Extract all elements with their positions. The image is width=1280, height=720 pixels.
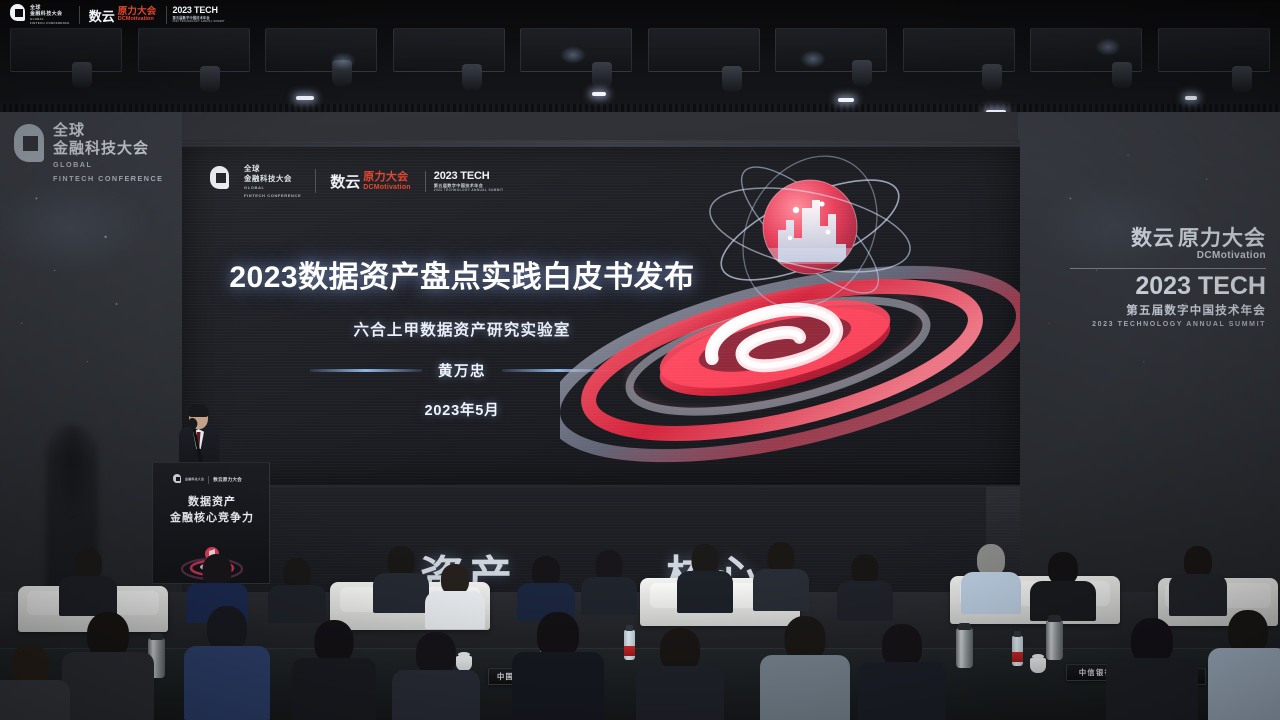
- person-body: [677, 571, 733, 613]
- podium-logo-text: 金融科技大会: [185, 478, 204, 482]
- left-sign-en-1: GLOBAL: [53, 160, 163, 170]
- spotlight-beam: [1185, 96, 1197, 100]
- right-sign-summit-en: 2023 TECHNOLOGY ANNUAL SUMMIT: [1070, 321, 1266, 328]
- led-logo-fintech-cn1: 全球: [244, 164, 301, 174]
- stage-light: [1112, 62, 1132, 88]
- person-body: [0, 680, 70, 720]
- person-body: [268, 585, 326, 623]
- overlay-badge-en: 2023 TECHNOLOGY ANNUAL SUMMIT: [173, 21, 225, 23]
- led-logo-dcm-red-en: DCMotivation: [363, 184, 411, 191]
- audience-person: [0, 644, 70, 720]
- fintech-logo-mark-icon: [173, 474, 181, 485]
- overlay-fintech-text: 全球 金融科技大会 GLOBAL FINTECH CONFERENCE: [30, 5, 70, 25]
- led-logo-dcm-red-cn: 原力大会: [363, 172, 411, 183]
- spotlight-beam: [592, 92, 606, 96]
- person-body: [760, 655, 850, 720]
- led-logo-dcm-red: 原力大会 DCMotivation: [363, 172, 411, 191]
- stage-light: [200, 66, 220, 92]
- audience-person: [372, 546, 430, 606]
- right-sign-summit-cn: 第五届数字中国技术年会: [1070, 302, 1266, 318]
- person-head: [315, 620, 354, 663]
- truss-segment: [1158, 28, 1270, 72]
- audience-person: [960, 544, 1022, 608]
- broadcast-overlay-logos: 全球 金融科技大会 GLOBAL FINTECH CONFERENCE 数云 原…: [10, 4, 225, 26]
- main-led-screen: 全球 金融科技大会 GLOBAL FINTECH CONFERENCE 数云 原…: [182, 140, 1020, 485]
- person-body: [858, 662, 946, 720]
- right-sign-tech-year: 2023 TECH: [1070, 274, 1266, 299]
- lamp-glow: [330, 52, 356, 70]
- fintech-logo-mark-icon: [12, 124, 46, 180]
- left-wall-signage: 全球 金融科技大会 GLOBAL FINTECH CONFERENCE: [12, 122, 172, 184]
- audience-person: [752, 542, 810, 604]
- lamp-glow: [560, 46, 586, 64]
- podium-logo-cn: 金融科技大会: [185, 477, 204, 481]
- led-top-bezel: [182, 140, 1020, 147]
- person-body: [59, 576, 117, 616]
- right-sign-brand-en: DCMotivation: [1070, 250, 1266, 261]
- person-body: [184, 646, 270, 720]
- person-body: [1208, 648, 1280, 720]
- lamp-glow: [1095, 38, 1121, 56]
- person-body: [425, 591, 485, 629]
- stage-light: [72, 62, 92, 88]
- podium-slogan-line1: 数据资产: [153, 495, 270, 511]
- truss-segment: [393, 28, 505, 72]
- audience-person: [676, 544, 734, 606]
- person-body: [512, 652, 604, 720]
- overlay-fintech-en2: FINTECH CONFERENCE: [30, 22, 70, 25]
- audience-person: [836, 554, 894, 614]
- audience-person: [424, 564, 486, 622]
- right-sign-brand-row: 数云 原力大会: [1070, 228, 1266, 249]
- stage-light: [462, 64, 482, 90]
- audience-area: 中国进出口银行 中信银行 中信银行: [0, 520, 1280, 720]
- right-wall-signage: 数云 原力大会 DCMotivation 2023 TECH 第五届数字中国技术…: [1070, 228, 1266, 328]
- led-badge-year: 2023 TECH: [434, 171, 504, 182]
- stage-light: [852, 60, 872, 86]
- truss-row: [0, 28, 1280, 74]
- led-logo-dcm: 数云 原力大会 DCMotivation: [330, 171, 411, 192]
- led-logo-divider: [315, 169, 316, 193]
- led-logo-bar: 全球 金融科技大会 GLOBAL FINTECH CONFERENCE 数云 原…: [210, 164, 503, 198]
- led-logo-fintech-en2: FINTECH CONFERENCE: [244, 193, 301, 199]
- audience-person: [516, 556, 576, 614]
- truss-segment: [265, 28, 377, 72]
- audience-person: [760, 616, 850, 720]
- truss-segment: [10, 28, 122, 72]
- spotlight-beam: [296, 96, 314, 100]
- led-logo-fintech-cn2: 金融科技大会: [244, 174, 301, 184]
- bottle-cap: [1014, 631, 1021, 637]
- person-body: [62, 652, 154, 720]
- audience-person: [1030, 552, 1096, 614]
- audience-person: [1168, 546, 1228, 608]
- truss-segment: [648, 28, 760, 72]
- right-sign-brand-cn2: 原力大会: [1178, 228, 1266, 249]
- audience-person: [268, 558, 326, 616]
- left-sign-en-2: FINTECH CONFERENCE: [53, 174, 163, 184]
- right-sign-brand-cn: 数云: [1131, 228, 1175, 249]
- audience-person: [1208, 610, 1280, 720]
- podium-logo-bar: 金融科技大会 数云原力大会: [173, 474, 242, 485]
- audience-person: [512, 612, 604, 720]
- led-presenter-name: 黄万忠: [438, 360, 486, 381]
- audience-person: [184, 606, 270, 718]
- audience-person: [62, 612, 154, 720]
- stage-light: [592, 62, 612, 88]
- overlay-tech-badge: 2023 TECH 第五届数字中国技术年会 2023 TECHNOLOGY AN…: [166, 6, 225, 24]
- audience-person: [858, 624, 946, 720]
- left-sign-cn-2: 金融科技大会: [53, 140, 163, 158]
- overlay-divider: [79, 6, 80, 24]
- right-sign-divider: [1070, 268, 1266, 269]
- thermos: [956, 628, 973, 668]
- person-body: [1030, 581, 1096, 621]
- person-head: [207, 606, 247, 651]
- water-bottle: [624, 630, 635, 660]
- audience-person: [292, 620, 376, 720]
- spotlight-beam: [838, 98, 854, 102]
- stage-light: [1232, 66, 1252, 92]
- lamp-glow: [800, 50, 826, 68]
- overlay-dcm-cn: 数云: [89, 6, 115, 25]
- audience-person: [58, 548, 118, 610]
- person-body: [1106, 658, 1198, 720]
- overlay-dcm-red-cn: 原力大会: [118, 7, 157, 17]
- audience-person: [580, 550, 638, 608]
- person-body: [292, 658, 376, 720]
- conference-stage-scene: 全球 金融科技大会 GLOBAL FINTECH CONFERENCE 数云 原…: [0, 0, 1280, 720]
- led-logo-dcm-cn: 数云: [330, 171, 360, 192]
- teacup: [1030, 658, 1046, 673]
- person-body: [373, 573, 429, 613]
- left-sign-cn-1: 全球: [53, 122, 163, 140]
- audience-person: [186, 554, 248, 614]
- person-body: [837, 581, 893, 621]
- speaker-hair: [188, 404, 209, 417]
- audience-person: [636, 628, 724, 720]
- truss-segment: [138, 28, 250, 72]
- bottle-cap: [626, 625, 633, 631]
- fintech-logo-mark-icon: [210, 166, 230, 196]
- audience-person: [392, 632, 480, 720]
- person-body: [961, 572, 1021, 614]
- person-body: [753, 569, 809, 611]
- stage-light: [982, 64, 1002, 90]
- water-bottle: [1012, 636, 1023, 666]
- person-body: [636, 666, 724, 720]
- overlay-dcm-red-en: DCMotivation: [118, 17, 157, 23]
- bottle-label: [624, 646, 635, 656]
- thermos: [1046, 620, 1063, 660]
- podium-dcm-text: 数云原力大会: [213, 477, 242, 483]
- podium-logo-divider: [208, 476, 209, 484]
- audience-person: [1106, 618, 1198, 720]
- person-body: [581, 577, 637, 615]
- led-badge-en: 2023 TECHNOLOGY ANNUAL SUMMIT: [434, 189, 504, 192]
- bottle-label: [1012, 652, 1023, 662]
- overlay-badge-year: 2023 TECH: [173, 6, 225, 15]
- stage-light: [722, 66, 742, 92]
- led-rule-left: [310, 369, 422, 372]
- led-logo-tech-badge: 2023 TECH 第五届数字中国技术年会 2023 TECHNOLOGY AN…: [425, 171, 504, 192]
- led-logo-fintech-en1: GLOBAL: [244, 185, 301, 191]
- data-galaxy-swirl-graphic-icon: [560, 152, 1020, 482]
- fintech-logo-mark-icon: [10, 4, 26, 26]
- person-body: [392, 670, 480, 720]
